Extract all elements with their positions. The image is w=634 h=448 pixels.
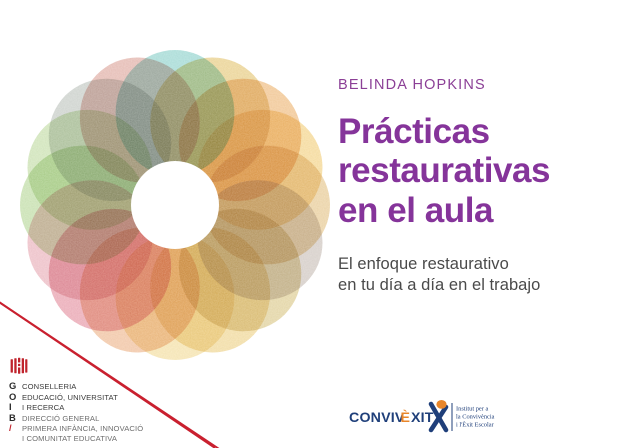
goib-row-text: CONSELLERIA xyxy=(22,382,77,393)
goib-text-rows: GCONSELLERIAOEDUCACIÓ, UNIVERSITATII REC… xyxy=(9,381,189,445)
goib-row-text: DIRECCIÓ GENERAL xyxy=(22,414,99,425)
goib-row-text: I COMUNITAT EDUCATIVA xyxy=(22,434,117,445)
goib-row: OEDUCACIÓ, UNIVERSITAT xyxy=(9,392,189,403)
title-line-1: Prácticas xyxy=(338,112,624,152)
goib-row: BDIRECCIÓ GENERAL xyxy=(9,413,189,424)
convivexit-tagline-line-2: la Convivència xyxy=(456,414,495,421)
goib-acronym-letter: / xyxy=(9,423,22,434)
book-title: Prácticas restaurativas en el aula xyxy=(338,112,624,231)
convivexit-logo: CONVIV È XIT Institut per a la Convivènc… xyxy=(349,399,499,435)
goib-row: II RECERCA xyxy=(9,402,189,413)
goib-row-text: I RECERCA xyxy=(22,403,64,414)
convivexit-wordmark-accent: È xyxy=(401,409,410,426)
convivexit-tagline-line-1: Institut per a xyxy=(456,406,488,413)
title-line-3: en el aula xyxy=(338,191,624,231)
goib-row-text: EDUCACIÓ, UNIVERSITAT xyxy=(22,393,118,404)
author-name: BELINDA HOPKINS xyxy=(338,78,624,93)
goib-row: /PRIMERA INFÀNCIA, INNOVACIÓ xyxy=(9,423,189,434)
watercolour-circle-wreath xyxy=(8,38,342,372)
goib-logo: GCONSELLERIAOEDUCACIÓ, UNIVERSITATII REC… xyxy=(9,357,189,445)
convivexit-tagline-line-3: i l'Èxit Escolar xyxy=(456,421,495,429)
subtitle-line-2: en tu día a día en el trabajo xyxy=(338,275,624,296)
convivexit-wordmark-part1: CONVIV xyxy=(349,410,405,426)
cover-text-block: BELINDA HOPKINS Prácticas restaurativas … xyxy=(338,78,624,296)
title-line-2: restaurativas xyxy=(338,151,624,191)
balearic-islands-coat-of-arms-icon xyxy=(10,357,28,376)
goib-row: I COMUNITAT EDUCATIVA xyxy=(9,434,189,445)
book-subtitle: El enfoque restaurativo en tu día a día … xyxy=(338,254,624,296)
goib-row: GCONSELLERIA xyxy=(9,381,189,392)
goib-acronym-letter: G xyxy=(9,381,22,392)
convivexit-wordmark-part2: XIT xyxy=(411,410,434,426)
subtitle-line-1: El enfoque restaurativo xyxy=(338,254,624,275)
book-cover: BELINDA HOPKINS Prácticas restaurativas … xyxy=(0,0,634,448)
